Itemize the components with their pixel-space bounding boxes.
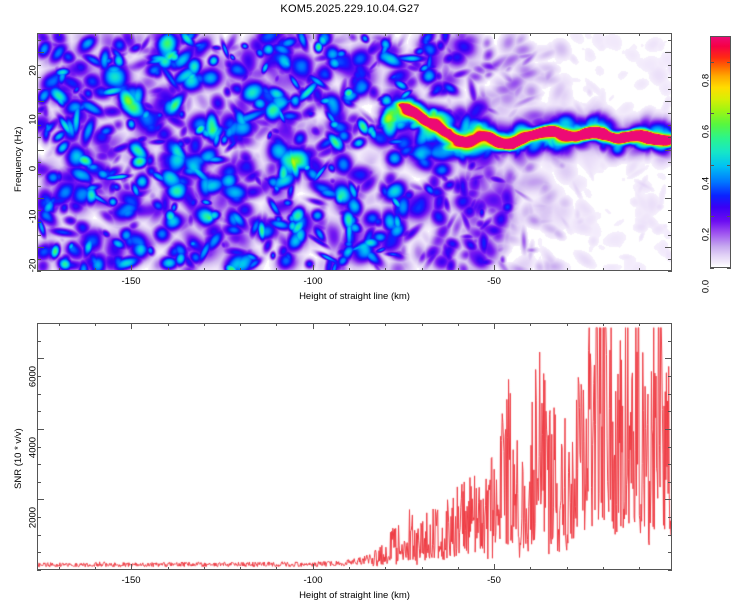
axis-tick <box>313 564 314 570</box>
yaxis-tick-label: 6000 <box>28 357 39 397</box>
axis-tick <box>458 33 459 36</box>
axis-tick <box>458 323 459 326</box>
colorbar-tick-label: 0.4 <box>701 164 712 204</box>
yaxis-tick-label: 4000 <box>28 428 39 468</box>
axis-tick <box>204 567 205 570</box>
axis-tick <box>530 268 531 271</box>
axis-tick <box>204 323 205 326</box>
axis-tick <box>385 268 386 271</box>
axis-tick <box>95 567 96 570</box>
axis-tick <box>665 247 672 248</box>
axis-tick <box>665 429 672 430</box>
snr-xaxis-label: Height of straight line (km) <box>37 590 672 601</box>
spectrogram-plot-area <box>37 33 672 271</box>
axis-tick <box>668 552 672 553</box>
axis-tick <box>349 567 350 570</box>
axis-tick <box>131 33 132 39</box>
axis-tick <box>422 268 423 271</box>
axis-tick <box>313 323 314 329</box>
axis-tick <box>668 125 672 126</box>
axis-tick <box>204 268 205 271</box>
axis-tick <box>37 570 41 571</box>
axis-tick <box>59 567 60 570</box>
axis-tick <box>668 271 672 272</box>
axis-tick <box>668 137 672 138</box>
yaxis-tick-label: -20 <box>28 246 39 286</box>
axis-tick <box>668 482 672 483</box>
axis-tick <box>665 499 672 500</box>
yaxis-tick-label: 2000 <box>28 498 39 538</box>
axis-tick <box>727 165 731 166</box>
axis-tick <box>422 567 423 570</box>
axis-tick <box>668 376 672 377</box>
colorbar-tick-label: 0.6 <box>701 112 712 152</box>
axis-tick <box>95 268 96 271</box>
xaxis-tick-label: -50 <box>487 575 501 586</box>
xaxis-tick-label: -100 <box>303 575 322 586</box>
snr-line-series <box>38 324 671 569</box>
axis-tick <box>668 40 672 41</box>
axis-tick <box>668 323 672 324</box>
axis-tick <box>665 101 672 102</box>
axis-tick <box>668 222 672 223</box>
axis-tick <box>240 33 241 36</box>
axis-tick <box>639 323 640 326</box>
axis-tick <box>603 33 604 36</box>
axis-tick <box>204 33 205 36</box>
axis-tick <box>313 33 314 39</box>
axis-tick <box>494 265 495 271</box>
axis-tick <box>458 268 459 271</box>
axis-tick <box>240 323 241 326</box>
axis-tick <box>668 174 672 175</box>
axis-tick <box>95 323 96 326</box>
axis-tick <box>276 567 277 570</box>
axis-tick <box>668 447 672 448</box>
snr-yaxis-label: SNR (10 * v/v) <box>13 428 24 489</box>
figure-root: KOM5.2025.229.10.04.G27 -150-100-5020100… <box>0 0 750 600</box>
axis-tick <box>639 268 640 271</box>
axis-tick <box>95 33 96 36</box>
yaxis-tick-label: 10 <box>28 100 39 140</box>
axis-tick <box>668 65 672 66</box>
axis-tick <box>168 567 169 570</box>
axis-tick <box>276 323 277 326</box>
axis-tick <box>567 323 568 326</box>
axis-tick <box>494 564 495 570</box>
axis-tick <box>668 77 672 78</box>
axis-tick <box>668 113 672 114</box>
axis-tick <box>385 567 386 570</box>
axis-tick <box>603 268 604 271</box>
xaxis-tick-label: -100 <box>303 276 322 287</box>
axis-tick <box>385 33 386 36</box>
axis-tick <box>665 150 672 151</box>
axis-tick <box>59 323 60 326</box>
colorbar-gradient <box>710 36 731 268</box>
axis-tick <box>458 567 459 570</box>
axis-tick <box>530 323 531 326</box>
axis-tick <box>603 567 604 570</box>
axis-tick <box>168 323 169 326</box>
axis-tick <box>37 323 41 324</box>
axis-tick <box>727 62 731 63</box>
axis-tick <box>131 564 132 570</box>
axis-tick <box>168 268 169 271</box>
axis-tick <box>37 411 41 412</box>
axis-tick <box>349 33 350 36</box>
axis-tick <box>668 259 672 260</box>
axis-tick <box>665 358 672 359</box>
yaxis-tick-label: -10 <box>28 197 39 237</box>
axis-tick <box>494 323 495 329</box>
spectrogram-yaxis-label: Frequency (Hz) <box>13 127 24 192</box>
axis-tick <box>727 113 731 114</box>
colorbar-tick-label: 0.8 <box>701 61 712 101</box>
xaxis-tick-label: -150 <box>121 575 140 586</box>
axis-tick <box>131 323 132 329</box>
axis-tick <box>567 268 568 271</box>
yaxis-tick-label: 0 <box>28 149 39 189</box>
axis-tick <box>668 411 672 412</box>
axis-tick <box>422 323 423 326</box>
axis-tick <box>59 33 60 36</box>
axis-tick <box>668 89 672 90</box>
colorbar-tick-label: 0.0 <box>701 267 712 307</box>
axis-tick <box>37 40 41 41</box>
colorbar-tick-label: 0.2 <box>701 215 712 255</box>
axis-tick <box>668 210 672 211</box>
axis-tick <box>639 567 640 570</box>
axis-tick <box>59 268 60 271</box>
spectrogram-xaxis-label: Height of straight line (km) <box>37 291 672 302</box>
axis-tick <box>668 535 672 536</box>
axis-tick <box>276 33 277 36</box>
axis-tick <box>668 235 672 236</box>
axis-tick <box>668 394 672 395</box>
axis-tick <box>422 33 423 36</box>
axis-tick <box>131 265 132 271</box>
axis-tick <box>385 323 386 326</box>
axis-tick <box>665 198 672 199</box>
axis-tick <box>240 567 241 570</box>
snr-plot-area <box>37 323 672 570</box>
axis-tick <box>313 265 314 271</box>
axis-tick <box>530 567 531 570</box>
axis-tick <box>727 216 731 217</box>
axis-tick <box>349 268 350 271</box>
axis-tick <box>240 268 241 271</box>
page-title: KOM5.2025.229.10.04.G27 <box>0 3 700 15</box>
axis-tick <box>668 341 672 342</box>
axis-tick <box>668 464 672 465</box>
axis-tick <box>668 186 672 187</box>
axis-tick <box>668 570 672 571</box>
axis-tick <box>603 323 604 326</box>
xaxis-tick-label: -150 <box>121 276 140 287</box>
axis-tick <box>567 33 568 36</box>
yaxis-tick-label: 20 <box>28 51 39 91</box>
axis-tick <box>665 52 672 53</box>
axis-tick <box>530 33 531 36</box>
axis-tick <box>37 341 41 342</box>
axis-tick <box>494 33 495 39</box>
axis-tick <box>349 323 350 326</box>
axis-tick <box>668 162 672 163</box>
spectrogram-image <box>38 34 671 270</box>
axis-tick <box>37 552 41 553</box>
axis-tick <box>727 268 731 269</box>
axis-tick <box>567 567 568 570</box>
xaxis-tick-label: -50 <box>487 276 501 287</box>
axis-tick <box>276 268 277 271</box>
axis-tick <box>168 33 169 36</box>
axis-tick <box>639 33 640 36</box>
axis-tick <box>37 482 41 483</box>
axis-tick <box>668 517 672 518</box>
